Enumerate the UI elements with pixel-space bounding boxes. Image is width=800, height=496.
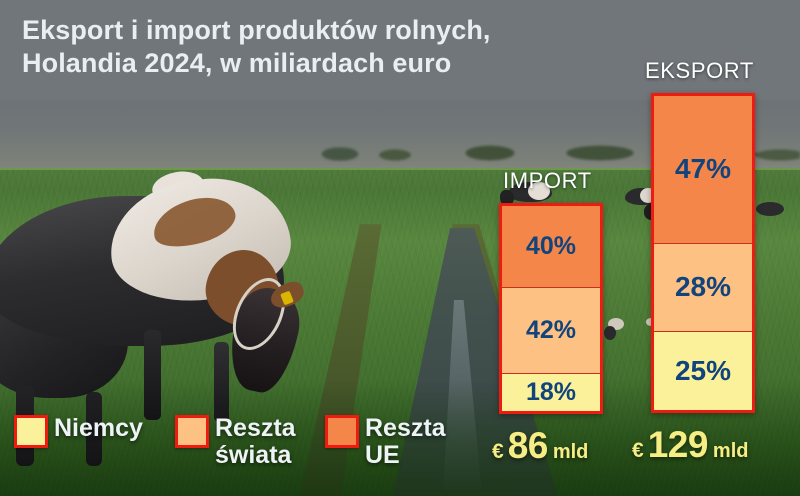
export-total-value: € 129 mld	[632, 424, 748, 466]
import-stacked-bar: 40%42%18%	[499, 203, 603, 414]
export-total-unit: mld	[713, 440, 749, 463]
field-debris	[604, 326, 616, 340]
import-column-label: IMPORT	[503, 168, 592, 194]
header-band: Eksport i import produktów rolnych, Hola…	[0, 0, 800, 100]
import-total-value: € 86 mld	[492, 425, 588, 467]
export-segment-1: 28%	[654, 243, 752, 331]
export-segment-label: 47%	[675, 153, 731, 185]
import-total-number: 86	[508, 425, 548, 467]
export-segment-label: 25%	[675, 355, 731, 387]
export-segment-0: 47%	[654, 96, 752, 243]
import-segment-label: 18%	[526, 378, 576, 407]
import-segment-1: 42%	[502, 287, 600, 373]
import-total-unit: mld	[553, 441, 589, 464]
legend-item-niemcy: Niemcy	[14, 415, 143, 448]
legend-item-label: Niemcy	[54, 415, 143, 442]
legend: Niemcy Reszta świata Reszta UE	[0, 412, 470, 496]
distant-cow-icon	[756, 202, 784, 216]
export-stacked-bar: 47%28%25%	[651, 93, 755, 413]
legend-item-reszta-swiata: Reszta świata	[175, 415, 296, 469]
cow-leg	[214, 342, 229, 422]
import-segment-label: 42%	[526, 316, 576, 345]
legend-swatch-icon	[14, 415, 48, 448]
import-segment-label: 40%	[526, 232, 576, 261]
import-currency-symbol: €	[492, 440, 504, 464]
cow-leg	[144, 330, 161, 420]
legend-item-label: Reszta UE	[365, 415, 446, 469]
import-segment-0: 40%	[502, 206, 600, 287]
legend-swatch-icon	[325, 415, 359, 448]
export-column-label: EKSPORT	[645, 58, 754, 84]
export-segment-label: 28%	[675, 271, 731, 303]
export-currency-symbol: €	[632, 439, 644, 463]
legend-item-label: Reszta świata	[215, 415, 296, 469]
page-title: Eksport i import produktów rolnych, Hola…	[22, 14, 642, 80]
export-segment-2: 25%	[654, 331, 752, 410]
legend-swatch-icon	[175, 415, 209, 448]
infographic-root: Eksport i import produktów rolnych, Hola…	[0, 0, 800, 496]
export-total-number: 129	[648, 424, 708, 466]
legend-item-reszta-ue: Reszta UE	[325, 415, 446, 469]
import-segment-2: 18%	[502, 373, 600, 411]
